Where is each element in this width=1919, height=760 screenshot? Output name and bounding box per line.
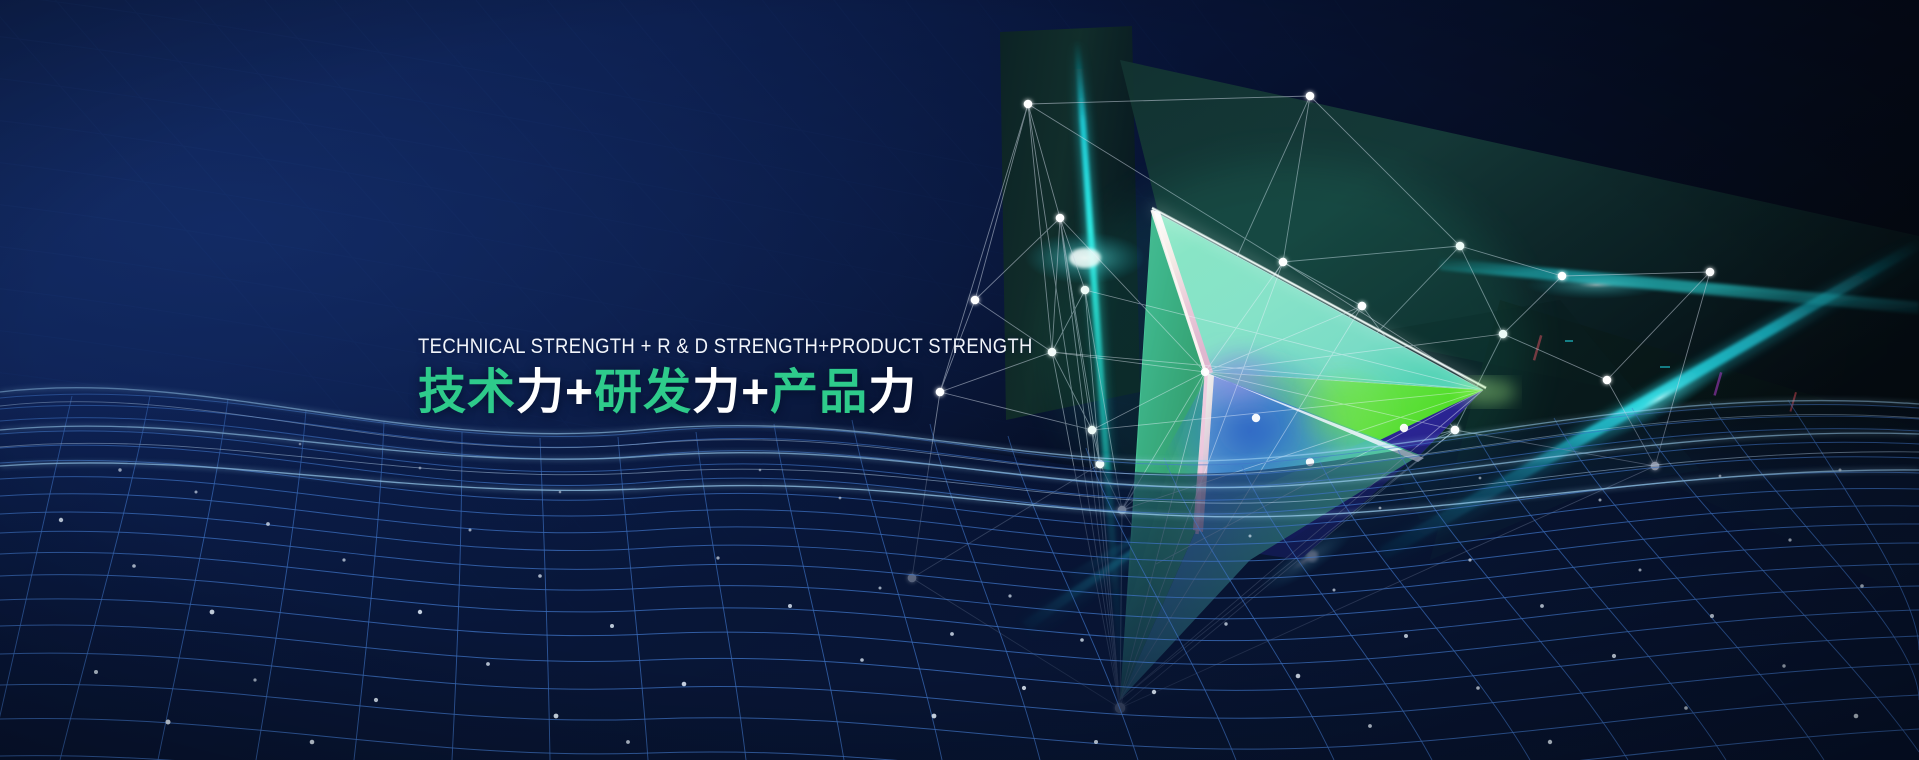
title-segment-li-2: 力 xyxy=(692,366,741,419)
headline-block: TECHNICAL STRENGTH + R & D STRENGTH+PROD… xyxy=(418,336,1038,418)
title-segment-jishu: 技术 xyxy=(418,366,516,419)
title-segment-yanfa: 研发 xyxy=(594,366,692,419)
title-segment-chanpin: 产品 xyxy=(770,366,868,419)
english-subtitle: TECHNICAL STRENGTH + R & D STRENGTH+PROD… xyxy=(418,336,951,358)
chinese-title: 技术力+研发力+产品力 xyxy=(418,367,1038,419)
title-plus-1: + xyxy=(565,366,594,419)
title-segment-li-3: 力 xyxy=(868,366,917,419)
title-segment-li-1: 力 xyxy=(516,366,565,419)
title-plus-2: + xyxy=(741,366,770,419)
hero-banner: TECHNICAL STRENGTH + R & D STRENGTH+PROD… xyxy=(0,0,1919,760)
